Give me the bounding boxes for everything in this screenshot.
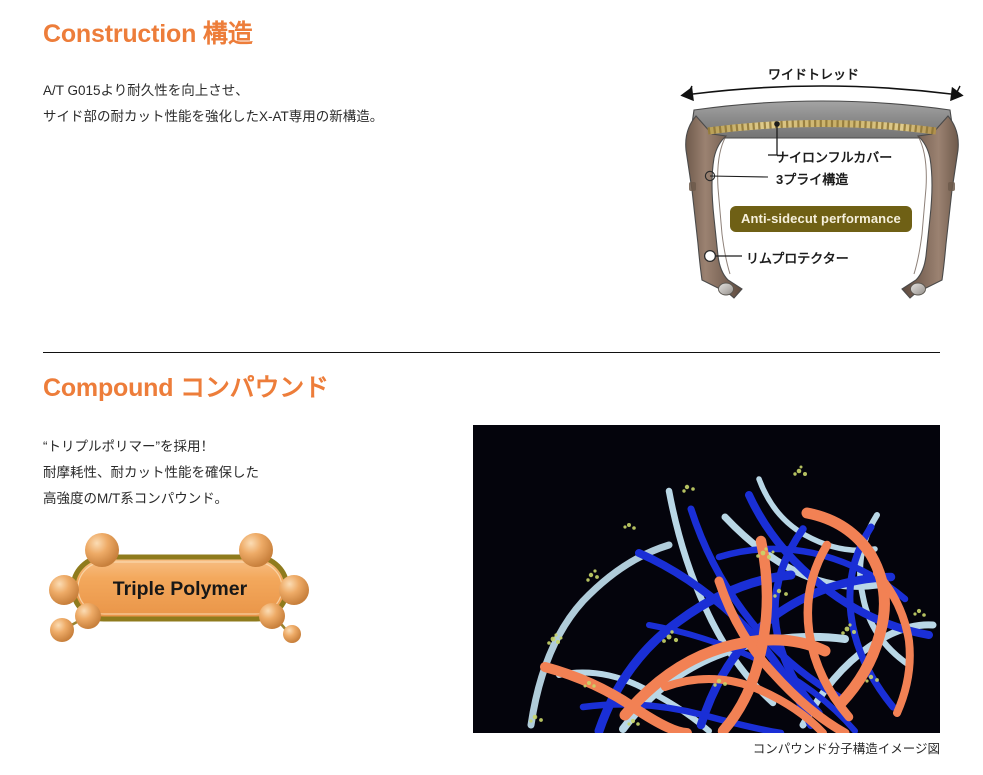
compound-molecular-structure-image [473, 425, 940, 733]
label-wide-tread: ワイドトレッド [768, 64, 859, 83]
construction-body-line-2: サイド部の耐カット性能を強化したX-AT専用の新構造。 [43, 104, 383, 130]
triple-polymer-molecule-graphic: Triple Polymer [40, 524, 320, 654]
construction-section-heading: Construction 構造 [43, 14, 253, 50]
polymer-strands-illustration [473, 425, 940, 733]
bead-core-left [719, 283, 734, 295]
construction-body-copy: A/T G015より耐久性を向上させ、 サイド部の耐カット性能を強化したX-AT… [43, 78, 383, 130]
compound-body-line-2: 耐摩耗性、耐カット性能を確保した [43, 460, 259, 486]
label-nylon-full-cover: ナイロンフルカバー [776, 147, 892, 166]
compound-image-caption: コンパウンド分子構造イメージ図 [473, 738, 940, 757]
compound-body-copy: “トリプルポリマー”を採用！ 耐摩耗性、耐カット性能を確保した 高強度のM/T系… [43, 434, 259, 512]
label-three-ply-structure: 3プライ構造 [776, 169, 848, 188]
compound-section-heading: Compound コンパウンド [43, 368, 329, 404]
molecule-illustration [40, 524, 320, 654]
wide-tread-dimension-arrow [688, 86, 960, 94]
construction-body-line-1: A/T G015より耐久性を向上させ、 [43, 78, 383, 104]
tire-construction-diagram: ワイドトレッド ナイロンフルカバー 3プライ構造 Anti-sidecut pe… [672, 58, 972, 310]
compound-body-line-3: 高強度のM/T系コンパウンド。 [43, 486, 259, 512]
bead-core-right [911, 283, 926, 295]
nylon-cover-marker [774, 121, 780, 127]
label-rim-protector: リムプロテクター [746, 248, 849, 267]
section-divider [43, 352, 940, 353]
anti-sidecut-performance-badge: Anti-sidecut performance [730, 206, 912, 232]
compound-body-line-1: “トリプルポリマー”を採用！ [43, 434, 259, 460]
rim-protector-marker [705, 251, 716, 262]
